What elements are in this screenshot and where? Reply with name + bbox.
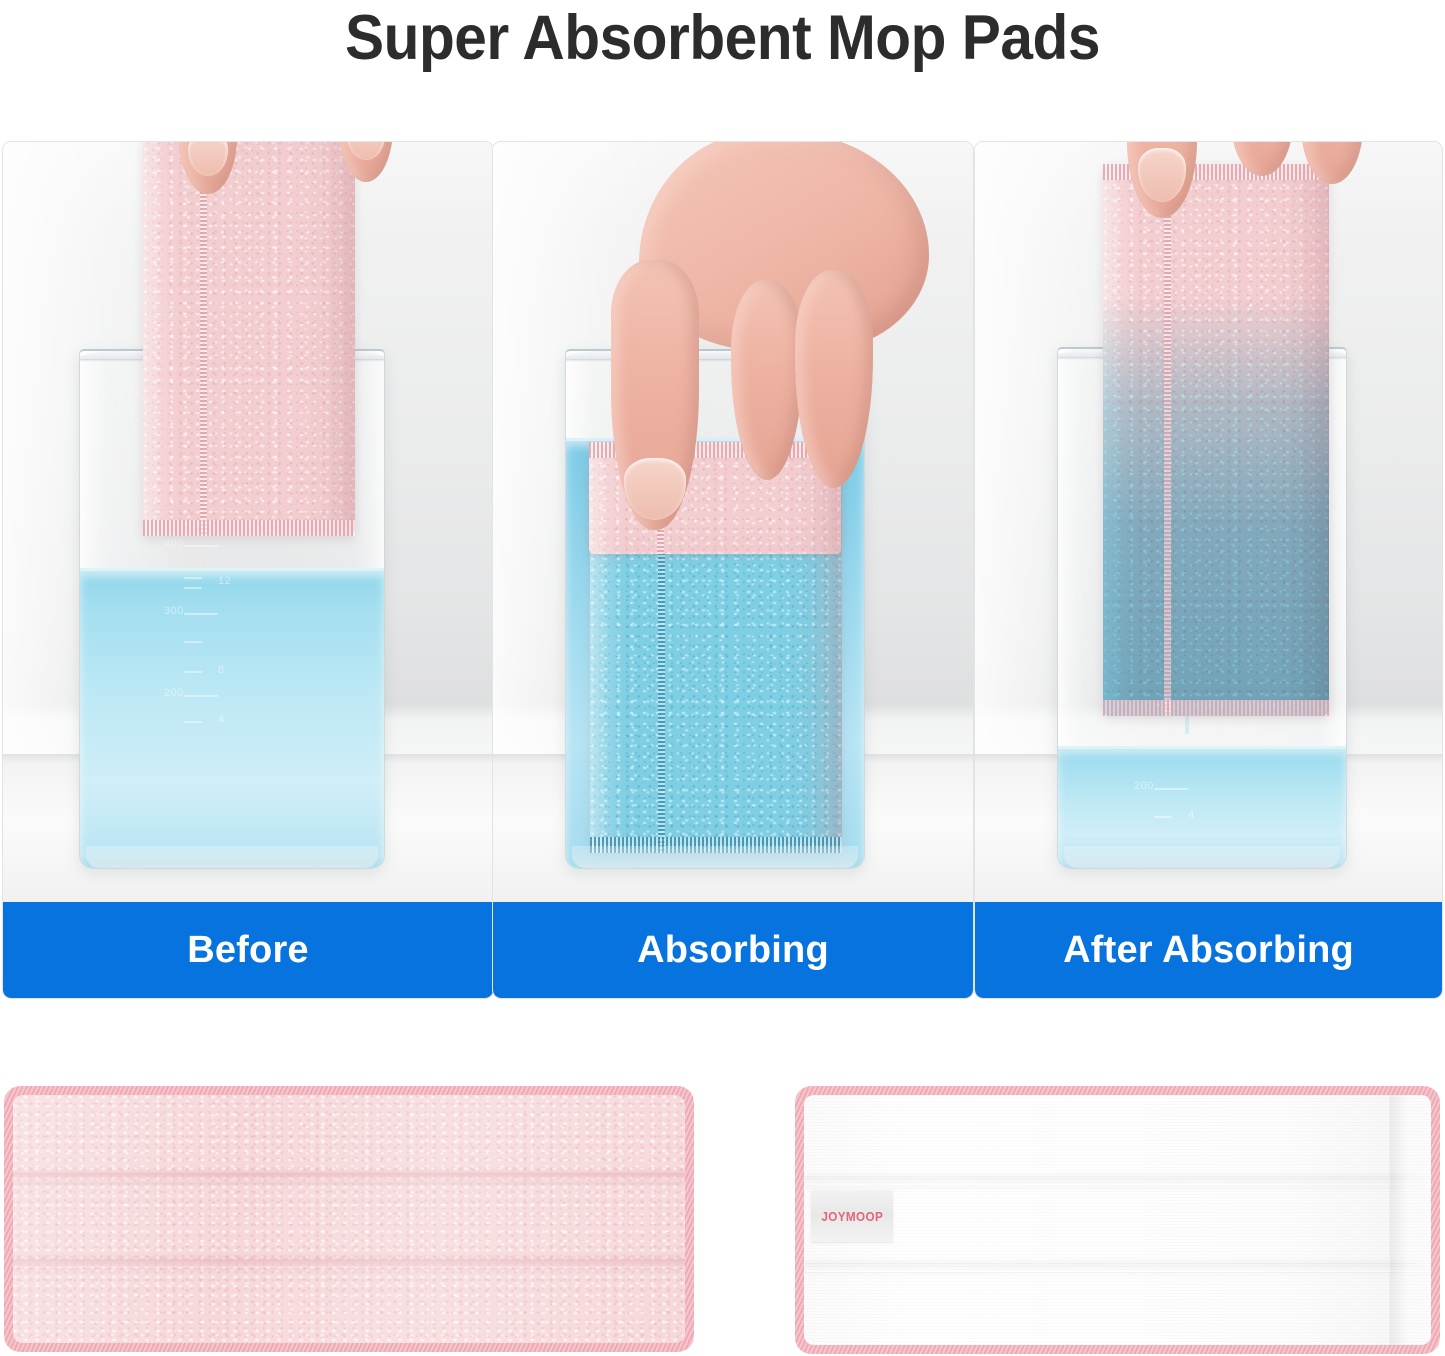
pad-channel-seam — [804, 1263, 1431, 1272]
photo-absorbing — [493, 142, 973, 902]
mop-pad-pink-front — [4, 1086, 694, 1352]
tick-label-oz-8: 8 — [218, 664, 225, 676]
caption-after-absorbing: After Absorbing — [975, 902, 1442, 998]
pad-channel-seam — [804, 1177, 1431, 1186]
pad-seam — [200, 142, 207, 536]
pad-chenille-surface — [13, 1095, 685, 1343]
pad-channel-seam — [13, 1173, 685, 1182]
photo-after-absorbing: 200 4 — [975, 142, 1442, 902]
fingernail — [347, 142, 385, 160]
pad-hem — [1103, 700, 1329, 716]
pad-saturation-gradient — [1103, 296, 1329, 716]
fingernail — [624, 458, 686, 520]
mop-pad-white-back: JOYMOOP — [795, 1086, 1440, 1354]
tick-label-oz-12: 12 — [218, 575, 231, 587]
tick-label-ml-200: 200 — [164, 687, 184, 699]
tick-label-ml-300: 300 — [164, 605, 184, 617]
beaker-graduations: 400 12 300 8 200 4 — [172, 531, 292, 831]
demo-panel-before: 400 12 300 8 200 4 — [2, 141, 494, 999]
tick-label-ml-400: 400 — [164, 538, 184, 550]
mop-pad-roll-lifted — [1103, 164, 1329, 716]
product-infographic: Super Absorbent Mop Pads 400 12 — [0, 0, 1445, 1356]
product-pad-row: JOYMOOP — [0, 1086, 1445, 1356]
fingernail — [1138, 148, 1186, 202]
pad-seam — [1164, 164, 1171, 716]
beaker-base — [86, 846, 378, 868]
demo-panel-absorbing: Absorbing — [492, 141, 974, 999]
pad-channel-seam — [13, 1259, 685, 1268]
beaker-base — [1064, 846, 1341, 868]
beaker-base — [572, 846, 858, 868]
tick-label-oz-4: 4 — [218, 714, 225, 726]
demo-panel-row: 400 12 300 8 200 4 — [0, 141, 1445, 999]
beaker-graduations: 200 4 — [1142, 758, 1262, 858]
pad-backing-surface — [804, 1095, 1431, 1345]
page-title: Super Absorbent Mop Pads — [51, 2, 1395, 74]
velcro-strip — [1389, 1095, 1431, 1345]
brand-label: JOYMOOP — [811, 1190, 893, 1242]
photo-before: 400 12 300 8 200 4 — [3, 142, 493, 902]
tick-label-ml-200: 200 — [1134, 780, 1154, 792]
tick-label-oz-4: 4 — [1188, 809, 1195, 821]
caption-before: Before — [3, 902, 493, 998]
caption-absorbing: Absorbing — [493, 902, 973, 998]
pad-hem — [143, 520, 355, 536]
fingernail — [188, 142, 228, 176]
mop-pad-roll-dry — [143, 142, 355, 536]
index-finger — [611, 260, 699, 530]
brand-label-text: JOYMOOP — [821, 1209, 883, 1224]
demo-panel-after-absorbing: 200 4 — [974, 141, 1443, 999]
